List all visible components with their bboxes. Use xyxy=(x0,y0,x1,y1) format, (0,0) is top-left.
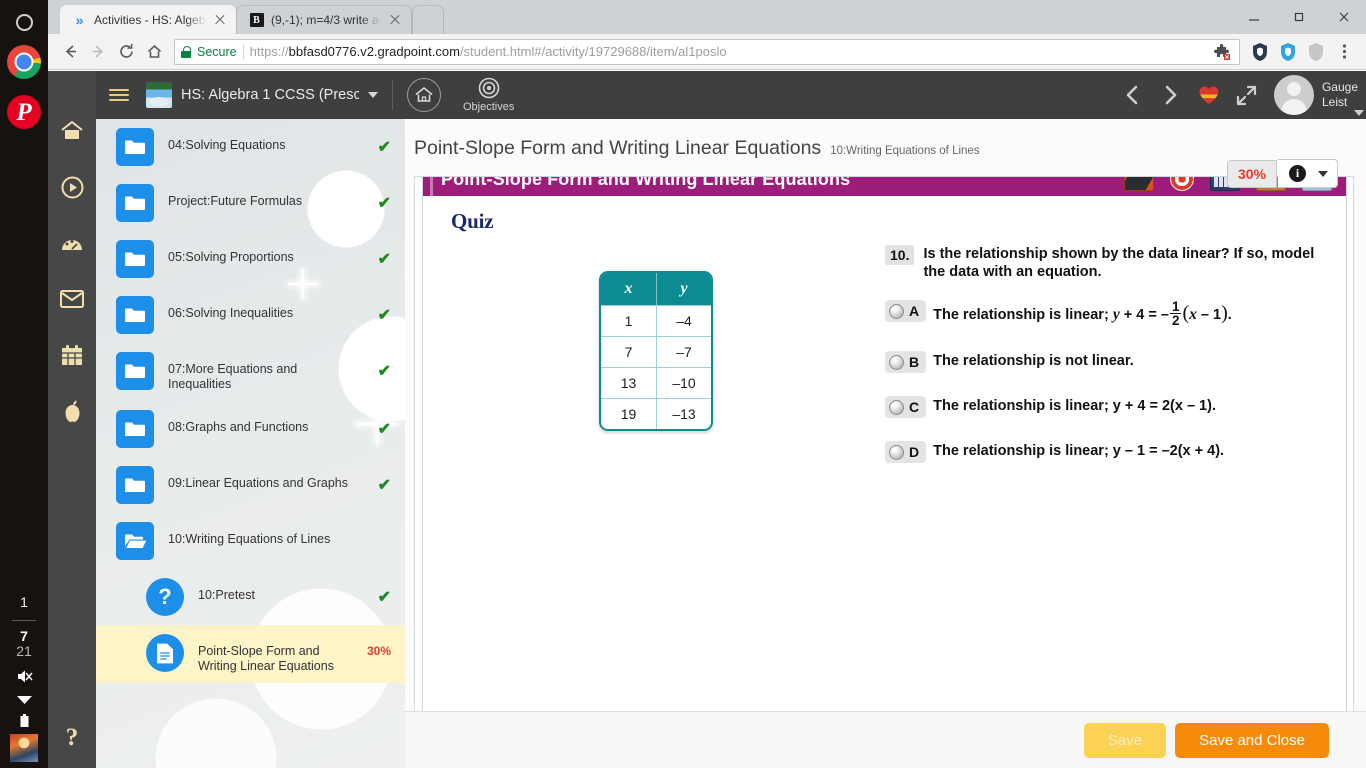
browser-toolbar: Secure https://bbfasd0776.v2.gradpoint.c… xyxy=(48,34,1366,70)
expand-arrows-icon[interactable] xyxy=(1228,76,1266,114)
close-icon[interactable] xyxy=(388,13,402,27)
choice-letter: D xyxy=(909,444,919,460)
objectives-button[interactable]: Objectives xyxy=(463,77,514,113)
mute-icon[interactable] xyxy=(16,669,33,684)
choice-a-equals: = xyxy=(1148,307,1156,323)
table-row: 13–10 xyxy=(601,367,711,398)
sidebar-item-label: 05:Solving Proportions xyxy=(168,240,364,265)
choice-text: The relationship is not linear. xyxy=(933,351,1134,369)
radio-button-icon[interactable] xyxy=(889,355,904,370)
sidebar-item[interactable]: Project:Future Formulas✔ xyxy=(96,175,405,231)
sidebar-item[interactable]: ?10:Pretest✔ xyxy=(96,569,405,625)
screen: P 1 7 21 » Activities - HS: Algebra 1 xyxy=(0,0,1366,768)
target-icon[interactable] xyxy=(1170,176,1194,191)
table-cell: 7 xyxy=(601,336,656,367)
answer-choice-b[interactable]: B The relationship is not linear. xyxy=(885,351,1334,373)
chevron-down-icon[interactable] xyxy=(1318,171,1328,177)
info-circle-icon[interactable]: i xyxy=(1289,165,1306,182)
course-thumbnail xyxy=(146,82,172,108)
choice-a-minus2: – xyxy=(1201,307,1209,323)
home-icon[interactable] xyxy=(140,38,168,66)
brainly-b-icon: B xyxy=(249,13,264,28)
os-activities-icon[interactable] xyxy=(16,14,33,31)
hamburger-icon[interactable] xyxy=(106,82,132,108)
folder-icon xyxy=(116,410,154,448)
table-cell: –13 xyxy=(656,398,711,429)
user-menu[interactable]: Gauge Leist xyxy=(1274,75,1358,115)
completed-check-icon: ✔ xyxy=(378,240,391,269)
security-label: Secure xyxy=(197,45,237,59)
document-icon xyxy=(146,634,184,672)
table-row: 1–4 xyxy=(601,305,711,336)
table-header-row: xy xyxy=(601,273,711,305)
choice-a-period: . xyxy=(1228,307,1232,323)
quiz-header: Quiz xyxy=(423,196,1346,234)
home-button[interactable] xyxy=(407,78,441,112)
sidebar-item[interactable]: 05:Solving Proportions✔ xyxy=(96,231,405,287)
completed-check-icon: ✔ xyxy=(378,578,391,607)
completed-check-icon: ✔ xyxy=(378,410,391,439)
sidebar-item[interactable]: 07:More Equations and Inequalities✔ xyxy=(96,343,405,401)
question-number: 10. xyxy=(885,245,914,265)
progress-controls: 30% i xyxy=(1227,159,1338,188)
book-icon[interactable] xyxy=(1124,176,1154,191)
table-cell: 1 xyxy=(601,305,656,336)
info-controls: i xyxy=(1278,159,1338,188)
folder-icon xyxy=(116,128,154,166)
radio-button-icon[interactable] xyxy=(889,445,904,460)
completed-check-icon: ✔ xyxy=(378,466,391,495)
objectives-target-icon xyxy=(478,77,500,99)
reload-icon[interactable] xyxy=(112,38,140,66)
calendar-icon[interactable] xyxy=(52,335,92,375)
chevron-down-icon xyxy=(368,92,378,98)
choice-a-plus: + xyxy=(1124,307,1132,323)
header-divider xyxy=(392,80,393,110)
radio-button-icon[interactable] xyxy=(889,400,904,415)
table-header-cell: y xyxy=(656,273,711,305)
sidebar-item[interactable]: 10:Writing Equations of Lines xyxy=(96,513,405,569)
app-nav-rail: ? xyxy=(48,71,96,768)
help-icon[interactable]: ? xyxy=(66,724,79,752)
table-row: 19–13 xyxy=(601,398,711,429)
url-text: https://bbfasd0776.v2.gradpoint.com/stud… xyxy=(250,44,1205,59)
sidebar-item[interactable]: 09:Linear Equations and Graphs✔ xyxy=(96,457,405,513)
choice-pill[interactable]: C xyxy=(885,396,926,418)
os-divider xyxy=(12,620,36,621)
folder-icon xyxy=(116,184,154,222)
pinterest-icon[interactable]: P xyxy=(6,95,42,131)
puzzle-extension-icon[interactable] xyxy=(1211,41,1233,63)
gradpoint-chevron-icon: » xyxy=(72,12,87,27)
sidebar-item[interactable]: 06:Solving Inequalities✔ xyxy=(96,287,405,343)
tab-title: (9,-1); m=4/3 write an eq xyxy=(271,13,381,27)
play-circle-icon[interactable] xyxy=(52,167,92,207)
sidebar-item[interactable]: Point-Slope Form and Writing Linear Equa… xyxy=(96,625,405,683)
chrome-menu-icon[interactable] xyxy=(1330,38,1358,66)
choice-a-var: x xyxy=(1189,306,1197,323)
shield-dark-icon[interactable] xyxy=(1246,38,1274,66)
save-button[interactable]: Save xyxy=(1084,723,1166,758)
browser-titlebar: » Activities - HS: Algebra 1 B (9,-1); m… xyxy=(48,0,1366,34)
lock-icon xyxy=(181,46,191,58)
completed-check-icon: ✔ xyxy=(378,296,391,325)
quiz-label: Quiz xyxy=(451,209,493,233)
gradpoint-app: ? HS: Algebra 1 CCSS (Prescr... Objectiv… xyxy=(48,71,1366,768)
lesson-sidebar[interactable]: 04:Solving Equations✔Project:Future Form… xyxy=(96,119,405,768)
choice-pill[interactable]: A xyxy=(885,300,926,322)
fraction-denominator: 2 xyxy=(1170,314,1182,327)
choice-letter: A xyxy=(909,303,919,319)
choice-text: The relationship is linear; y + 4 = 2(x … xyxy=(933,396,1216,414)
url-host: bbfasd0776.v2.gradpoint.com xyxy=(289,44,460,59)
choice-pill[interactable]: D xyxy=(885,441,926,463)
folder-icon xyxy=(116,240,154,278)
choice-a-four: 4 xyxy=(1136,307,1144,323)
sidebar-item-label: 09:Linear Equations and Graphs xyxy=(168,466,364,491)
table-cell: 13 xyxy=(601,367,656,398)
answer-choice-d[interactable]: D The relationship is linear; y – 1 = –2… xyxy=(885,441,1334,463)
banner-title: Point-Slope Form and Writing Linear Equa… xyxy=(441,176,850,190)
browser-tab-active[interactable]: » Activities - HS: Algebra 1 xyxy=(60,5,236,34)
app-header: HS: Algebra 1 CCSS (Prescr... Objectives xyxy=(96,71,1366,119)
answer-choice-a[interactable]: A The relationship is linear; y + 4 = xyxy=(885,300,1334,328)
sidebar-item[interactable]: 08:Graphs and Functions✔ xyxy=(96,401,405,457)
sidebar-item-label: 10:Writing Equations of Lines xyxy=(168,522,391,547)
browser-tab-inactive[interactable]: B (9,-1); m=4/3 write an eq xyxy=(236,5,412,34)
apple-icon[interactable] xyxy=(52,391,92,431)
sidebar-item-label: 08:Graphs and Functions xyxy=(168,410,364,435)
quiz-figure: xy 1–47–713–1019–13 xyxy=(435,234,885,463)
avatar xyxy=(1274,75,1314,115)
page-subtitle: 10:Writing Equations of Lines xyxy=(830,145,979,157)
quiz-body: xy 1–47–713–1019–13 10. Is the relations… xyxy=(423,234,1346,463)
objectives-label: Objectives xyxy=(463,101,514,113)
completed-check-icon: ✔ xyxy=(378,184,391,213)
sidebar-item-label: 07:More Equations and Inequalities xyxy=(168,352,364,392)
choice-letter: B xyxy=(909,354,919,370)
table-header-cell: x xyxy=(601,273,656,305)
sidebar-item-label: Project:Future Formulas xyxy=(168,184,364,209)
sidebar-item-label: 10:Pretest xyxy=(198,578,364,603)
chevron-right-icon[interactable] xyxy=(1152,76,1190,114)
new-tab-button[interactable] xyxy=(412,5,444,34)
tab-title: Activities - HS: Algebra 1 xyxy=(94,13,206,27)
progress-badge[interactable]: 30% xyxy=(1227,160,1277,188)
shield-blue-icon[interactable] xyxy=(1274,38,1302,66)
question-row: 10. Is the relationship shown by the dat… xyxy=(885,245,1334,281)
forward-icon xyxy=(84,38,112,66)
completed-check-icon: ✔ xyxy=(378,352,391,381)
close-icon[interactable] xyxy=(1321,0,1366,34)
folder-icon xyxy=(116,352,154,390)
minimize-icon[interactable] xyxy=(1231,0,1276,34)
shield-gray-icon[interactable] xyxy=(1302,38,1330,66)
browser-window: » Activities - HS: Algebra 1 B (9,-1); m… xyxy=(48,0,1366,768)
data-table: xy 1–47–713–1019–13 xyxy=(599,271,713,431)
chrome-icon[interactable] xyxy=(6,45,42,81)
choice-a-lhs: y xyxy=(1113,306,1120,323)
chevron-left-icon[interactable] xyxy=(1114,76,1152,114)
wifi-icon[interactable] xyxy=(16,693,33,705)
address-bar[interactable]: Secure https://bbfasd0776.v2.gradpoint.c… xyxy=(174,39,1240,65)
table-cell: 19 xyxy=(601,398,656,429)
folder-open-icon xyxy=(116,522,154,560)
course-name: HS: Algebra 1 CCSS (Prescr... xyxy=(181,87,359,103)
activity-banner: Point-Slope Form and Writing Linear Equa… xyxy=(423,176,1346,196)
table-cell: –4 xyxy=(656,305,711,336)
table-body: 1–47–713–1019–13 xyxy=(601,305,711,429)
window-controls xyxy=(1231,0,1366,34)
choice-a-minus: – xyxy=(1161,307,1169,323)
sidebar-item[interactable]: 04:Solving Equations✔ xyxy=(96,119,405,175)
table-cell: –7 xyxy=(656,336,711,367)
answer-choice-c[interactable]: C The relationship is linear; y + 4 = 2(… xyxy=(885,396,1334,418)
heart-icon[interactable] xyxy=(1190,76,1228,114)
omnibox-divider xyxy=(243,44,244,60)
activity-frame: Point-Slope Form and Writing Linear Equa… xyxy=(414,176,1354,768)
workspace-number: 1 xyxy=(20,594,28,610)
fraction-one-half: 12 xyxy=(1170,301,1182,327)
dashboard-gauge-icon[interactable] xyxy=(52,223,92,263)
table-row: 7–7 xyxy=(601,336,711,367)
user-last-name: Leist xyxy=(1322,95,1358,110)
radio-button-icon[interactable] xyxy=(889,304,904,319)
activity-footer: Save Save and Close xyxy=(405,711,1366,768)
url-scheme: https:// xyxy=(250,44,289,59)
choice-text: The relationship is linear; y + 4 = –12(… xyxy=(933,300,1232,328)
battery-icon[interactable] xyxy=(19,714,30,728)
choice-letter: C xyxy=(909,399,919,415)
question-prompt: Is the relationship shown by the data li… xyxy=(923,245,1321,281)
user-first-name: Gauge xyxy=(1322,80,1358,95)
table-cell: –10 xyxy=(656,367,711,398)
back-icon[interactable] xyxy=(56,38,84,66)
lesson-tree: 04:Solving Equations✔Project:Future Form… xyxy=(96,119,405,683)
sidebar-item-percent: 30% xyxy=(367,634,391,658)
course-selector[interactable]: HS: Algebra 1 CCSS (Prescr... xyxy=(146,82,378,108)
chevron-down-icon xyxy=(1354,110,1364,116)
choice-a-one: 1 xyxy=(1213,307,1221,323)
breadcrumb: Point-Slope Form and Writing Linear Equa… xyxy=(405,119,1366,160)
folder-icon xyxy=(116,466,154,504)
folder-icon xyxy=(116,296,154,334)
save-and-close-button[interactable]: Save and Close xyxy=(1175,723,1329,758)
choice-text: The relationship is linear; y – 1 = –2(x… xyxy=(933,441,1224,459)
clock-minute: 21 xyxy=(16,644,32,659)
sidebar-item-label: 06:Solving Inequalities xyxy=(168,296,364,321)
sidebar-item-label: Point-Slope Form and Writing Linear Equa… xyxy=(198,634,353,674)
choice-a-close-paren: ) xyxy=(1221,302,1228,324)
maximize-icon[interactable] xyxy=(1276,0,1321,34)
question-circle-icon: ? xyxy=(146,578,184,616)
page-title: Point-Slope Form and Writing Linear Equa… xyxy=(414,137,821,160)
url-path: /student.html#/activity/19729688/item/al… xyxy=(460,44,727,59)
choice-a-lead: The relationship is linear xyxy=(933,307,1104,323)
sidebar-item-label: 04:Solving Equations xyxy=(168,128,364,153)
envelope-icon[interactable] xyxy=(52,279,92,319)
choice-a-semicolon: ; xyxy=(1104,307,1109,323)
clock-hour: 7 xyxy=(20,629,28,644)
completed-check-icon: ✔ xyxy=(378,128,391,157)
quiz-question: 10. Is the relationship shown by the dat… xyxy=(885,234,1334,463)
answer-choices: A The relationship is linear; y + 4 = xyxy=(885,300,1334,463)
close-icon[interactable] xyxy=(213,13,227,27)
os-taskbar: P 1 7 21 xyxy=(0,0,48,768)
activity-inner: Point-Slope Form and Writing Linear Equa… xyxy=(422,176,1347,768)
choice-pill[interactable]: B xyxy=(885,351,926,373)
main-content: Point-Slope Form and Writing Linear Equa… xyxy=(405,119,1366,768)
user-photo[interactable] xyxy=(10,734,38,762)
home-icon[interactable] xyxy=(52,111,92,151)
